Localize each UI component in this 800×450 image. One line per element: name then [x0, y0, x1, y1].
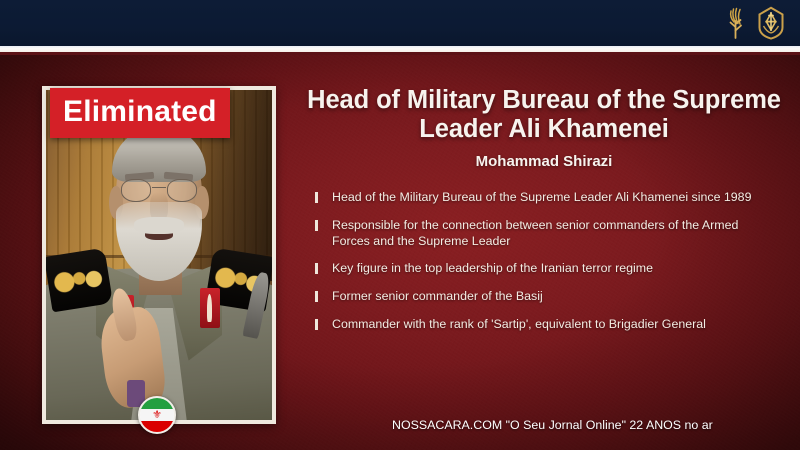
iran-flag-badge: ⚜: [138, 396, 176, 434]
header-logos: [723, 3, 786, 43]
eyeglasses-icon: [121, 179, 198, 202]
idf-spokesperson-broadcast-icon: [723, 7, 750, 39]
list-item: Responsible for the connection between s…: [332, 218, 762, 250]
bullet-marker-icon: [315, 192, 318, 203]
list-item-text: Former senior commander of the Basij: [332, 289, 543, 303]
insignia-patch-right: [200, 288, 220, 328]
list-item: Key figure in the top leadership of the …: [332, 261, 762, 277]
bullet-marker-icon: [315, 319, 318, 330]
epaulette-left: [46, 247, 113, 312]
bullet-marker-icon: [315, 263, 318, 274]
list-item-text: Responsible for the connection between s…: [332, 218, 738, 248]
subject-mustache: [134, 217, 184, 234]
fact-list: Head of the Military Bureau of the Supre…: [300, 190, 788, 333]
bullet-marker-icon: [315, 291, 318, 302]
list-item-text: Head of the Military Bureau of the Supre…: [332, 190, 751, 204]
list-item-text: Key figure in the top leadership of the …: [332, 261, 653, 275]
iran-emblem-icon: ⚜: [151, 409, 163, 421]
status-badge-eliminated: Eliminated: [50, 88, 230, 138]
subject-photo: [46, 90, 272, 420]
list-item-text: Commander with the rank of 'Sartip', equ…: [332, 317, 706, 331]
header-bar: [0, 0, 800, 46]
graphic-card: Eliminated ⚜ Head of Military Bureau of …: [0, 0, 800, 450]
list-item: Head of the Military Bureau of the Supre…: [332, 190, 762, 206]
subject-name: Mohammad Shirazi: [300, 153, 788, 170]
list-item: Former senior commander of the Basij: [332, 289, 762, 305]
bullet-marker-icon: [315, 220, 318, 231]
idf-emblem-icon: [756, 6, 786, 40]
list-item: Commander with the rank of 'Sartip', equ…: [332, 317, 762, 333]
content-column: Head of Military Bureau of the Supreme L…: [300, 86, 788, 333]
header-divider-shadow: [0, 52, 800, 55]
source-caption: NOSSACARA.COM "O Seu Jornal Online" 22 A…: [392, 418, 713, 432]
page-title: Head of Military Bureau of the Supreme L…: [300, 86, 788, 144]
